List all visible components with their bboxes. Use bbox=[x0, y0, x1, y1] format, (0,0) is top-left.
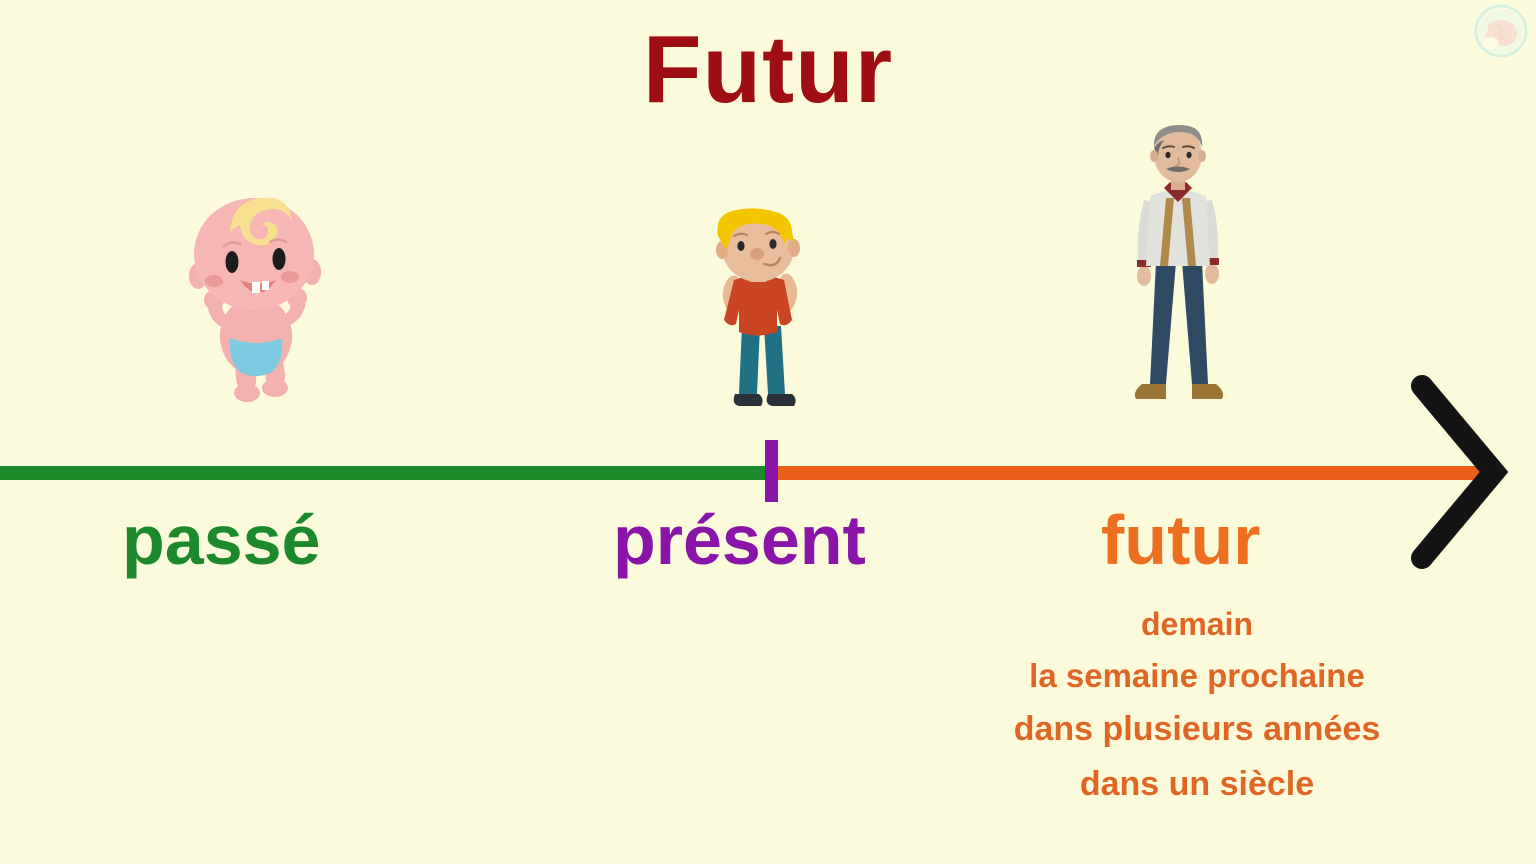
timeline-label-futur: futur bbox=[1101, 505, 1260, 575]
boy-illustration bbox=[694, 206, 820, 418]
timeline-label-passe: passé bbox=[122, 505, 320, 575]
timeline-past-segment bbox=[0, 466, 771, 480]
timeline-label-present: présent bbox=[613, 505, 866, 575]
timeline-future-segment bbox=[771, 466, 1501, 480]
future-expression-item: dans plusieurs années bbox=[947, 708, 1447, 752]
arrow-head-icon bbox=[1408, 372, 1508, 572]
present-tick-marker bbox=[765, 440, 778, 502]
brain-logo-icon bbox=[1474, 4, 1528, 58]
future-expressions-list: demain la semaine prochaine dans plusieu… bbox=[947, 604, 1447, 806]
baby-illustration bbox=[178, 188, 330, 406]
slide-canvas: Futur bbox=[0, 0, 1536, 864]
future-expression-item: dans un siècle bbox=[947, 763, 1447, 807]
future-expression-item: la semaine prochaine bbox=[947, 655, 1447, 697]
old-man-illustration bbox=[1126, 122, 1230, 418]
future-expression-item: demain bbox=[947, 604, 1447, 645]
page-title: Futur bbox=[0, 22, 1536, 118]
